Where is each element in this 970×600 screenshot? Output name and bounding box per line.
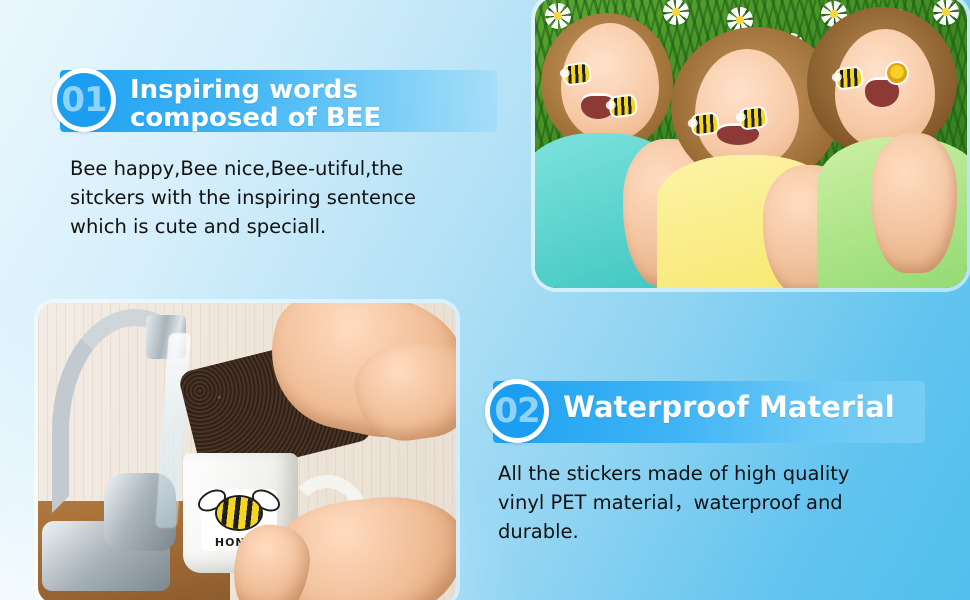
bee-sticker [610, 95, 636, 116]
thumbs-up-icon [871, 133, 957, 273]
bee-sticker [564, 63, 590, 84]
bee-sticker [692, 113, 718, 134]
promo-banner: HONEY 01 Inspiring words composed of BEE… [0, 0, 970, 600]
daisy-flower-icon [933, 0, 959, 25]
daisy-flower-icon [545, 3, 571, 29]
kids-photo [535, 0, 967, 288]
bee-body-icon [217, 497, 261, 529]
section-02-body: All the stickers made of high quality vi… [498, 460, 938, 547]
section-01-title: Inspiring words composed of BEE [130, 77, 381, 133]
daisy-flower-icon [663, 0, 689, 25]
mug-photo-scene: HONEY [38, 303, 456, 600]
section-02-number-badge: 02 [485, 379, 549, 443]
section-01-body: Bee happy,Bee nice,Bee-utiful,the sitcke… [70, 155, 490, 242]
mug-photo: HONEY [38, 303, 456, 600]
section-01-number-badge: 01 [52, 68, 116, 132]
bee-sticker [836, 67, 862, 88]
bee-sticker [740, 107, 766, 128]
kids-photo-scene [535, 0, 967, 288]
section-02-title: Waterproof Material [563, 392, 895, 423]
round-bee-sticker [887, 63, 907, 83]
